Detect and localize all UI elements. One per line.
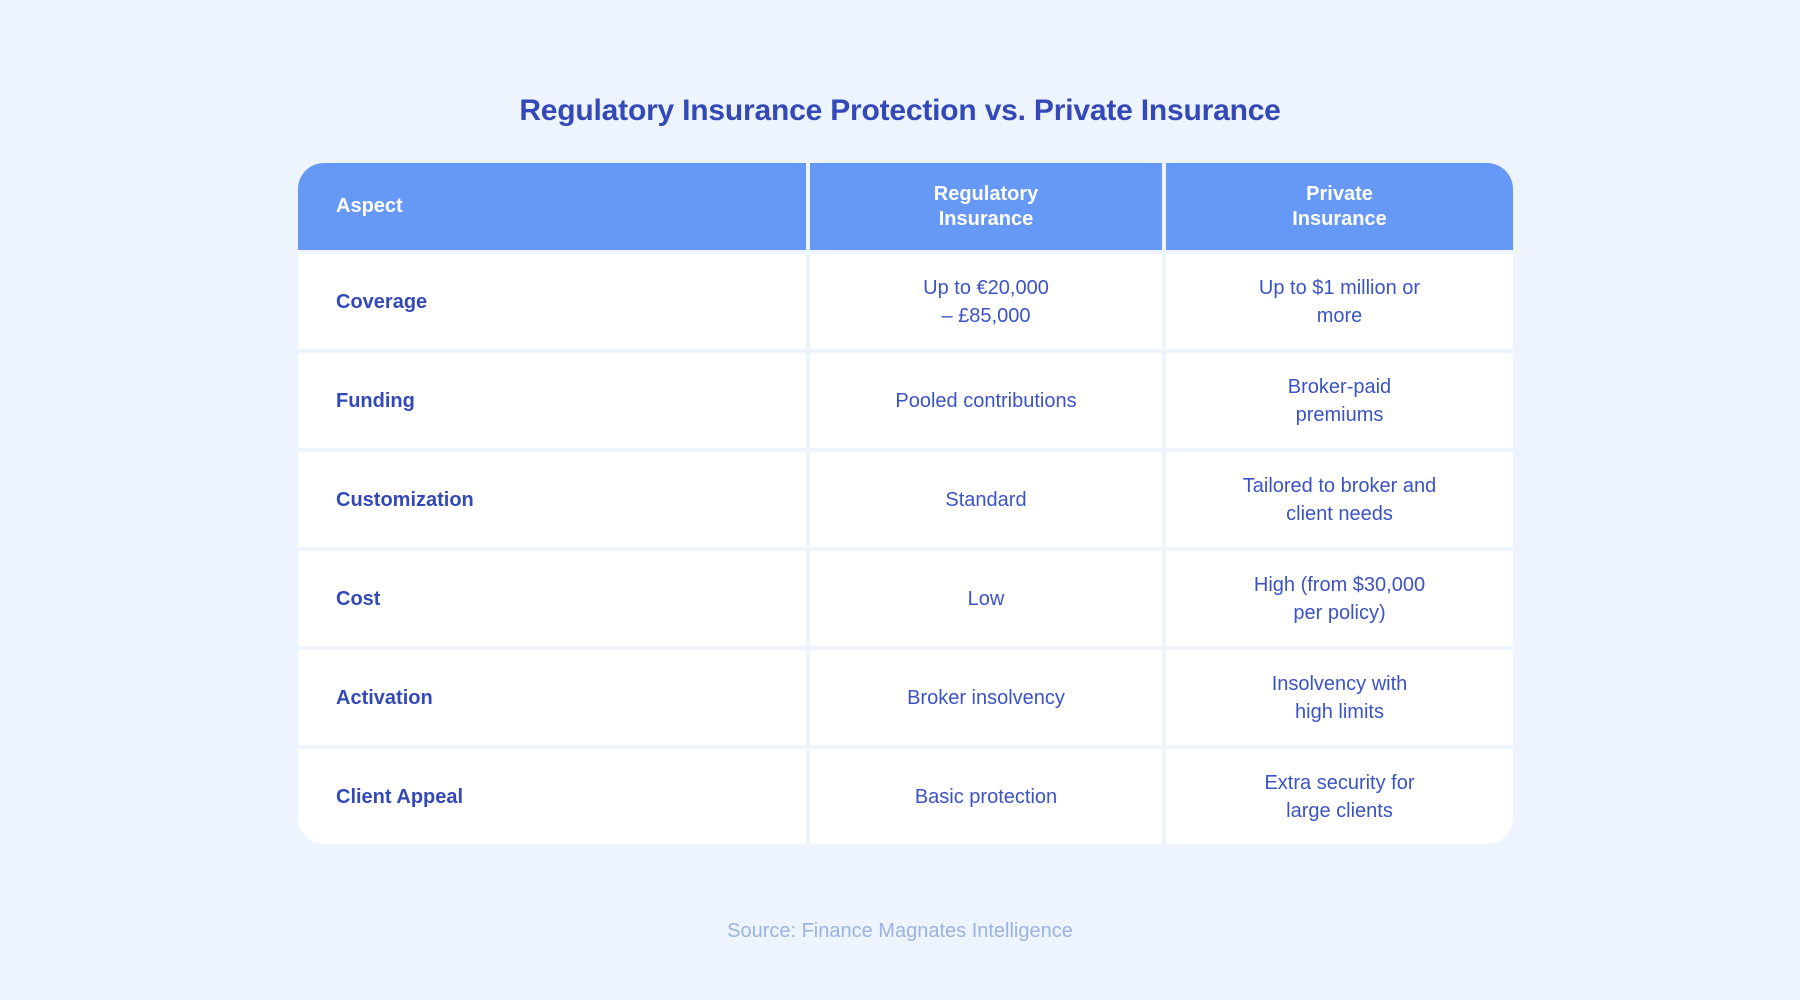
- row-label-funding: Funding: [298, 353, 806, 448]
- cell-client-appeal-private: Extra security for large clients: [1166, 749, 1513, 844]
- cell-coverage-private: Up to $1 million or more: [1166, 254, 1513, 349]
- cell-coverage-regulatory: Up to €20,000 – £85,000: [810, 254, 1162, 349]
- cell-activation-private: Insolvency with high limits: [1166, 650, 1513, 745]
- cell-customization-regulatory: Standard: [810, 452, 1162, 547]
- table-header-row: Aspect Regulatory Insurance Private Insu…: [298, 163, 1513, 250]
- cell-line1: Pooled contributions: [895, 390, 1076, 412]
- column-header-aspect: Aspect: [298, 163, 806, 250]
- table-row: Funding Pooled contributions Broker-paid…: [298, 353, 1513, 448]
- table-header: Aspect Regulatory Insurance Private Insu…: [298, 163, 1513, 250]
- cell-line1: Standard: [945, 489, 1026, 511]
- infographic-page: Regulatory Insurance Protection vs. Priv…: [0, 0, 1800, 1000]
- cell-funding-private: Broker-paid premiums: [1166, 353, 1513, 448]
- cell-customization-private: Tailored to broker and client needs: [1166, 452, 1513, 547]
- column-header-regulatory-insurance: Regulatory Insurance: [810, 163, 1162, 250]
- cell-line1: Basic protection: [915, 786, 1057, 808]
- row-label-coverage: Coverage: [298, 254, 806, 349]
- cell-line2: large clients: [1286, 800, 1393, 822]
- table-body: Coverage Up to €20,000 – £85,000 Up to $…: [298, 254, 1513, 844]
- column-header-private-line2: Insurance: [1292, 208, 1386, 230]
- comparison-table-container: Aspect Regulatory Insurance Private Insu…: [298, 163, 1505, 844]
- cell-line2: – £85,000: [942, 305, 1031, 327]
- cell-line1: High (from $30,000: [1254, 574, 1425, 596]
- row-label-client-appeal: Client Appeal: [298, 749, 806, 844]
- cell-line1: Extra security for: [1264, 772, 1414, 794]
- cell-client-appeal-regulatory: Basic protection: [810, 749, 1162, 844]
- table-row: Coverage Up to €20,000 – £85,000 Up to $…: [298, 254, 1513, 349]
- row-label-cost: Cost: [298, 551, 806, 646]
- cell-line2: premiums: [1296, 404, 1384, 426]
- table-row: Cost Low High (from $30,000 per policy): [298, 551, 1513, 646]
- cell-line2: client needs: [1286, 503, 1393, 525]
- column-header-private-line1: Private: [1306, 183, 1373, 205]
- table-row: Client Appeal Basic protection Extra sec…: [298, 749, 1513, 844]
- column-header-regulatory-line1: Regulatory: [934, 183, 1038, 205]
- cell-funding-regulatory: Pooled contributions: [810, 353, 1162, 448]
- page-title: Regulatory Insurance Protection vs. Priv…: [0, 92, 1800, 130]
- column-header-regulatory-line2: Insurance: [939, 208, 1033, 230]
- cell-line1: Broker-paid: [1288, 376, 1391, 398]
- cell-line2: high limits: [1295, 701, 1384, 723]
- row-label-activation: Activation: [298, 650, 806, 745]
- cell-activation-regulatory: Broker insolvency: [810, 650, 1162, 745]
- source-caption: Source: Finance Magnates Intelligence: [0, 917, 1800, 945]
- cell-line2: more: [1317, 305, 1363, 327]
- cell-line1: Insolvency with: [1272, 673, 1408, 695]
- cell-line1: Tailored to broker and: [1243, 475, 1436, 497]
- table-row: Activation Broker insolvency Insolvency …: [298, 650, 1513, 745]
- cell-line2: per policy): [1293, 602, 1385, 624]
- column-header-private-insurance: Private Insurance: [1166, 163, 1513, 250]
- comparison-table: Aspect Regulatory Insurance Private Insu…: [294, 159, 1517, 848]
- table-row: Customization Standard Tailored to broke…: [298, 452, 1513, 547]
- cell-line1: Low: [968, 588, 1005, 610]
- cell-line1: Up to $1 million or: [1259, 277, 1420, 299]
- cell-line1: Up to €20,000: [923, 277, 1049, 299]
- cell-cost-regulatory: Low: [810, 551, 1162, 646]
- cell-line1: Broker insolvency: [907, 687, 1065, 709]
- row-label-customization: Customization: [298, 452, 806, 547]
- cell-cost-private: High (from $30,000 per policy): [1166, 551, 1513, 646]
